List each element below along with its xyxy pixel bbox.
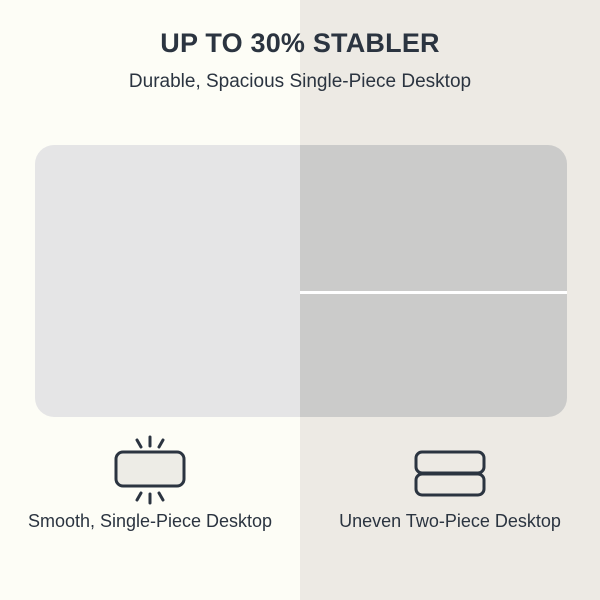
- two-piece-desktop-icon: [400, 432, 500, 508]
- comparison-column-right: Uneven Two-Piece Desktop: [300, 432, 600, 562]
- desk-surface-single-piece: [35, 145, 300, 417]
- comparison-caption-right: Uneven Two-Piece Desktop: [339, 508, 561, 534]
- comparison-columns: Smooth, Single-Piece Desktop Uneven Two-…: [0, 432, 600, 562]
- single-piece-desktop-icon: [100, 432, 200, 508]
- comparison-column-left: Smooth, Single-Piece Desktop: [0, 432, 300, 562]
- page-subtitle: Durable, Spacious Single-Piece Desktop: [0, 60, 600, 94]
- heading-block: UP TO 30% STABLER Durable, Spacious Sing…: [0, 26, 600, 94]
- desk-surface-two-piece: [300, 145, 567, 417]
- comparison-caption-left: Smooth, Single-Piece Desktop: [28, 508, 272, 534]
- page-title: UP TO 30% STABLER: [0, 26, 600, 60]
- product-comparison-graphic: UP TO 30% STABLER Durable, Spacious Sing…: [0, 0, 600, 600]
- desk-illustration: [35, 145, 567, 417]
- desk-seam-line: [300, 291, 567, 294]
